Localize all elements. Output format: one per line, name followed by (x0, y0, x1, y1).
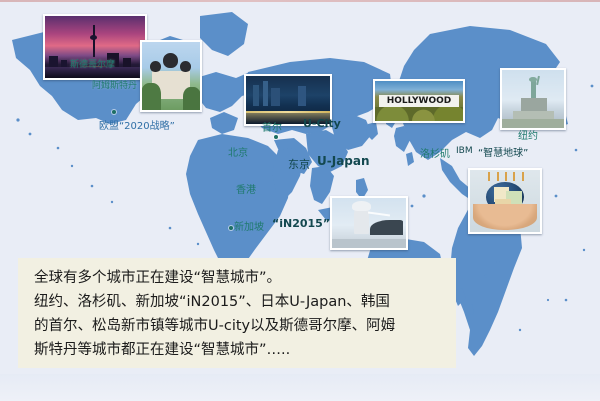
photo-stockholm-skyline (43, 14, 147, 80)
map-label-stockholm: 斯德哥尔摩 (70, 57, 115, 70)
map-label-newyork: 纽约 (518, 127, 538, 142)
map-label-hongkong: 香港 (236, 181, 256, 196)
map-dot-eu (112, 110, 116, 114)
map-label-in2015: “iN2015” (272, 217, 330, 230)
map-label-u-city: U-City (303, 117, 341, 130)
summary-line-4: 斯特丹等城市都正在建设“智慧城市”….. (18, 338, 456, 362)
photo-hands-globe (468, 168, 542, 234)
map-label-singapore: 新加坡 (234, 218, 264, 233)
photo-statue-of-liberty (500, 68, 566, 130)
summary-line-1: 全球有多个城市正在建设“智慧城市”。 (18, 266, 456, 290)
map-label-beijing: 北京 (228, 144, 248, 159)
summary-textbox: 全球有多个城市正在建设“智慧城市”。 纽约、洛杉矶、新加坡“iN2015”、日本… (18, 258, 456, 368)
map-label-amsterdam: 阿姆斯特丹 (92, 78, 137, 91)
slide-canvas: HOLLYWOOD (0, 0, 600, 401)
map-label-eu-2020: 欧盟“2020战略” (99, 117, 175, 132)
map-dot-singapore (229, 226, 233, 230)
map-label-losangeles: 洛杉矶 (420, 145, 450, 160)
map-label-smarter-planet: “智慧地球” (478, 144, 528, 159)
summary-line-3: 的首尔、松岛新市镇等城市U-city以及斯德哥尔摩、阿姆 (18, 314, 456, 338)
photo-cathedral (140, 40, 202, 112)
photo-hollywood-sign: HOLLYWOOD (373, 79, 465, 123)
map-dot-seoul (274, 135, 278, 139)
photo-merlion (330, 196, 408, 250)
hollywood-sign-text: HOLLYWOOD (379, 95, 460, 107)
map-label-seoul: 首尔 (262, 119, 282, 134)
summary-line-2: 纽约、洛杉矶、新加坡“iN2015”、日本U-Japan、韩国 (18, 290, 456, 314)
map-label-u-japan: U-Japan (317, 154, 370, 168)
map-label-tokyo: 东京 (288, 156, 310, 172)
map-label-ibm: IBM (456, 146, 473, 156)
